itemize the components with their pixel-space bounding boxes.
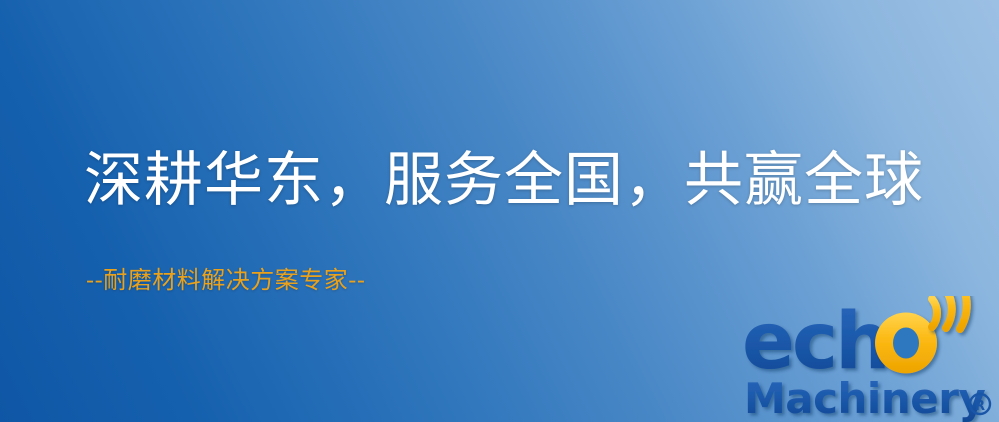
logo-letter-o-icon: [875, 313, 937, 374]
hero-banner: 深耕华东，服务全国，共赢全球 --耐磨材料解决方案专家--: [0, 0, 999, 422]
logo-tagline-machinery-icon: Machinery: [744, 374, 985, 422]
signal-waves-icon: [932, 296, 967, 329]
svg-text:R: R: [975, 399, 985, 414]
page-subtitle: --耐磨材料解决方案专家--: [86, 268, 365, 292]
svg-text:Machinery: Machinery: [744, 374, 985, 422]
company-logo: ech Machinery R: [742, 296, 999, 422]
page-title: 深耕华东，服务全国，共赢全球: [84, 150, 924, 209]
